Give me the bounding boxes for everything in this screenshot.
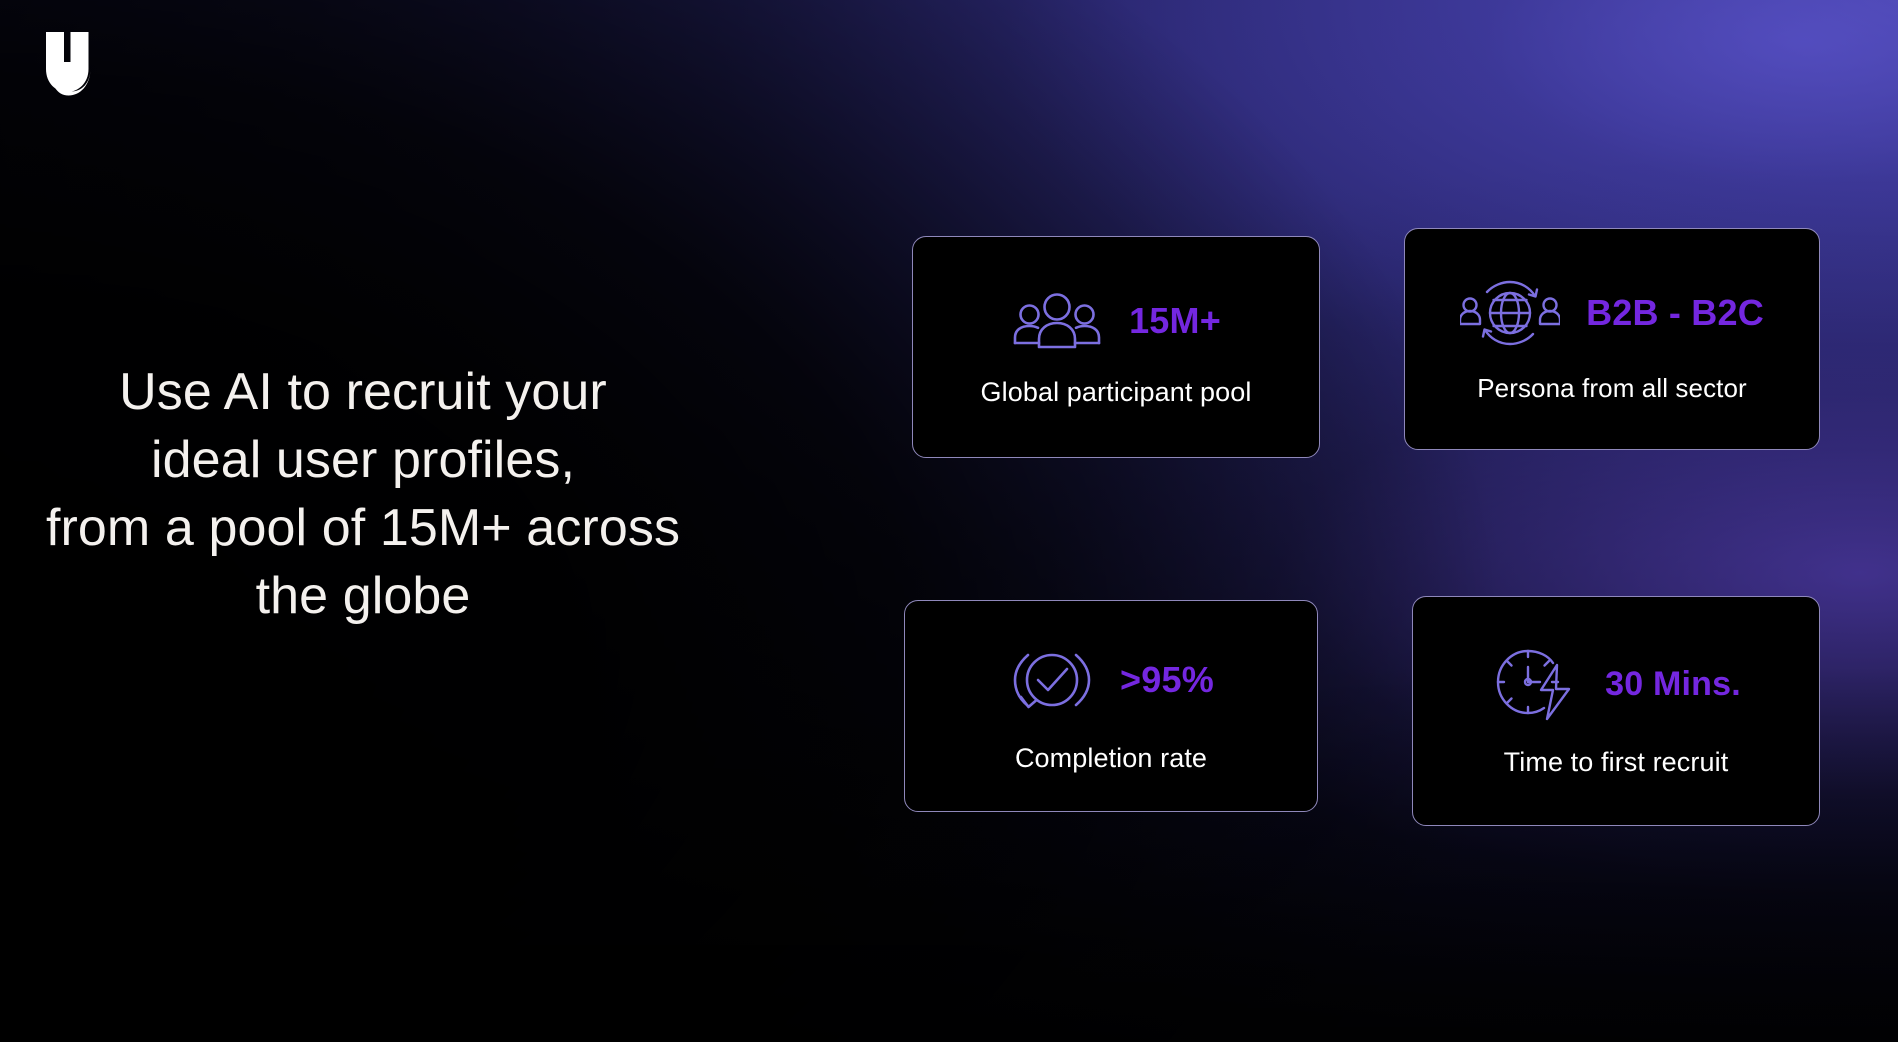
stat-card-top-row: >95% [905, 639, 1317, 721]
check-circle-refresh-icon [1008, 639, 1094, 721]
stat-card-value: >95% [1120, 659, 1214, 701]
stat-card-value: B2B - B2C [1586, 292, 1764, 334]
stat-card-completion-rate[interactable]: >95% Completion rate [904, 600, 1318, 812]
stat-card-label: Persona from all sector [1477, 373, 1747, 404]
stat-card-global-participant-pool[interactable]: 15M+ Global participant pool [912, 236, 1320, 458]
stat-card-top-row: 15M+ [913, 287, 1319, 355]
stat-card-label: Time to first recruit [1504, 747, 1729, 778]
stat-card-persona-all-sectors[interactable]: B2B - B2C Persona from all sector [1404, 228, 1820, 450]
stat-card-value: 15M+ [1129, 300, 1221, 342]
stat-card-time-to-first-recruit[interactable]: 30 Mins. Time to first recruit [1412, 596, 1820, 826]
slide-canvas: Use AI to recruit your ideal user profil… [0, 0, 1898, 1042]
page-headline: Use AI to recruit your ideal user profil… [0, 358, 726, 630]
stat-card-top-row: 30 Mins. [1413, 645, 1819, 725]
group-people-icon [1011, 287, 1103, 355]
clock-lightning-icon [1491, 645, 1579, 725]
uxarmy-u-logo-icon [42, 28, 108, 100]
globe-users-exchange-icon [1460, 275, 1560, 351]
stat-card-label: Global participant pool [981, 377, 1252, 408]
stat-cards-grid: 15M+ Global participant pool [896, 228, 1836, 828]
stat-card-top-row: B2B - B2C [1405, 275, 1819, 351]
stat-card-label: Completion rate [1015, 743, 1207, 774]
stat-card-value: 30 Mins. [1605, 665, 1741, 704]
brand-logo[interactable] [42, 28, 108, 100]
